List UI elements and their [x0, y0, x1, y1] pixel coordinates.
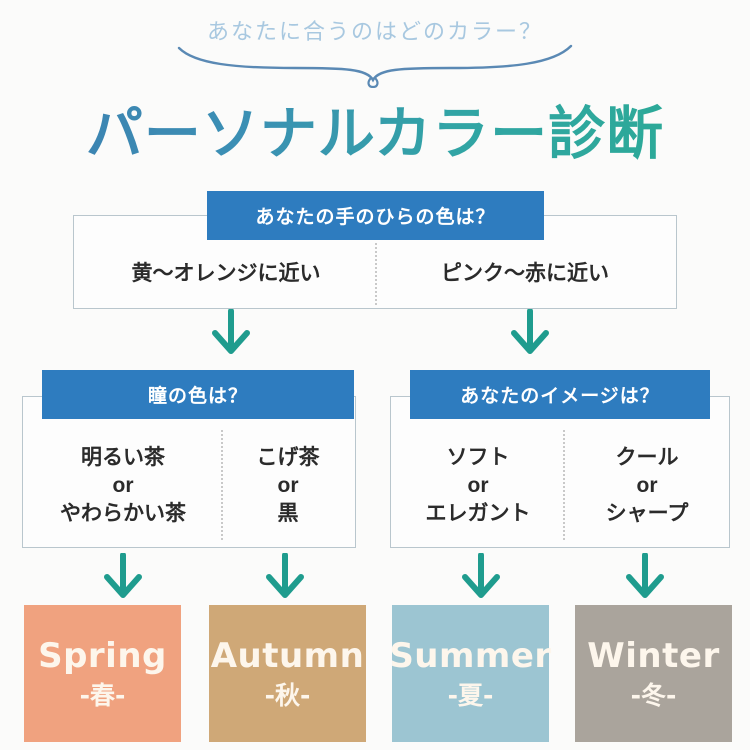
- question-header-label-q2: 瞳の色は？: [148, 381, 248, 408]
- option-line: やわらかい茶: [60, 500, 186, 528]
- curly-brace-icon: [175, 42, 575, 88]
- question-header-q1[interactable]: あなたの手のひらの色は？: [207, 191, 544, 240]
- option-line: or: [468, 472, 489, 500]
- result-english-label: Winter: [587, 639, 719, 673]
- question-header-q3[interactable]: あなたのイメージは？: [410, 370, 710, 419]
- option-line: クール: [616, 444, 679, 472]
- arrow-down-icon: [211, 309, 251, 357]
- result-japanese-label: -秋-: [265, 683, 311, 708]
- arrow-down-icon: [461, 553, 501, 601]
- personal-color-diagnosis-chart: あなたに合うのはどのカラー？ パーソナルカラー診断 あなたの手のひらの色は？ 黄…: [0, 0, 750, 750]
- result-japanese-label: -夏-: [448, 683, 494, 708]
- question-option-q3-soft[interactable]: ソフト or エレガント: [394, 430, 562, 542]
- question-option-q1-cool[interactable]: ピンク～赤に近い: [377, 240, 673, 308]
- option-line: エレガント: [426, 500, 531, 528]
- option-line: 黒: [278, 500, 299, 528]
- option-line: ソフト: [447, 444, 510, 472]
- question-header-label-q1: あなたの手のひらの色は？: [255, 202, 495, 229]
- result-card-spring[interactable]: Spring -春-: [24, 605, 181, 742]
- question-option-q2-light-brown[interactable]: 明るい茶 or やわらかい茶: [26, 430, 220, 542]
- arrow-down-icon: [103, 553, 143, 601]
- result-card-summer[interactable]: Summer -夏-: [392, 605, 549, 742]
- arrow-down-icon: [265, 553, 305, 601]
- question-option-q2-dark-brown[interactable]: こげ茶 or 黒: [223, 430, 353, 542]
- result-english-label: Spring: [38, 639, 167, 673]
- arrow-down-icon: [625, 553, 665, 601]
- result-japanese-label: -冬-: [631, 683, 677, 708]
- option-line: or: [278, 472, 299, 500]
- question-option-q1-warm[interactable]: 黄～オレンジに近い: [78, 240, 374, 308]
- result-japanese-label: -春-: [80, 683, 126, 708]
- option-line: 明るい茶: [81, 444, 165, 472]
- page-title: パーソナルカラー診断: [0, 88, 750, 170]
- result-card-autumn[interactable]: Autumn -秋-: [209, 605, 366, 742]
- result-english-label: Summer: [389, 639, 551, 673]
- result-english-label: Autumn: [211, 639, 365, 673]
- option-line: or: [637, 472, 658, 500]
- option-line: こげ茶: [257, 444, 320, 472]
- result-card-winter[interactable]: Winter -冬-: [575, 605, 732, 742]
- arrow-down-icon: [510, 309, 550, 357]
- option-line: シャープ: [606, 500, 689, 528]
- question-option-q3-cool[interactable]: クール or シャープ: [565, 430, 729, 542]
- option-line: 黄～オレンジに近い: [132, 260, 321, 288]
- option-line: or: [113, 472, 134, 500]
- option-line: ピンク～赤に近い: [441, 260, 609, 288]
- question-header-q2[interactable]: 瞳の色は？: [42, 370, 354, 419]
- question-header-label-q3: あなたのイメージは？: [460, 381, 660, 408]
